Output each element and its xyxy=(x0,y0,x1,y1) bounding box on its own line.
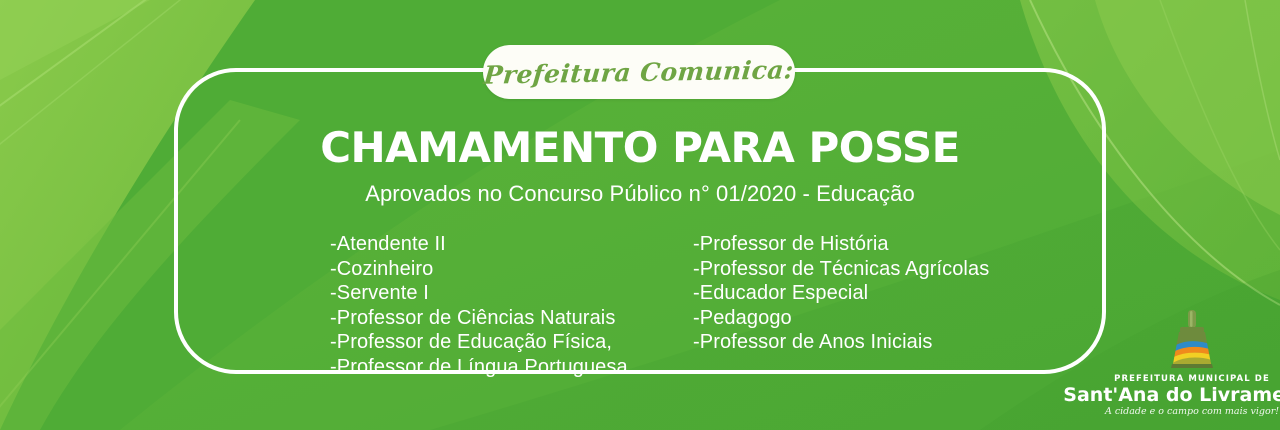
list-item: -Cozinheiro xyxy=(330,257,675,282)
list-item: -Professor de História xyxy=(693,232,1048,257)
page-subtitle: Aprovados no Concurso Público n° 01/2020… xyxy=(174,181,1106,207)
list-item: -Professor de Técnicas Agrícolas xyxy=(693,257,1048,282)
list-item: -Atendente II xyxy=(330,232,675,257)
positions-lists: -Atendente II -Cozinheiro -Servente I -P… xyxy=(330,232,1050,379)
badge-label: Prefeitura Comunica: xyxy=(483,55,795,89)
positions-column-left: -Atendente II -Cozinheiro -Servente I -P… xyxy=(330,232,675,379)
list-item: -Professor de Ciências Naturais xyxy=(330,306,675,331)
positions-column-right: -Professor de História -Professor de Téc… xyxy=(693,232,1048,355)
headline-block: CHAMAMENTO PARA POSSE Aprovados no Concu… xyxy=(174,125,1106,207)
prefeitura-announcement-banner: Prefeitura Comunica: CHAMAMENTO PARA POS… xyxy=(0,0,1280,430)
logo-line-prefeitura: PREFEITURA MUNICIPAL DE xyxy=(1114,374,1270,384)
list-item: -Professor de Língua Portuguesa xyxy=(330,355,675,380)
prefeitura-comunica-badge: Prefeitura Comunica: xyxy=(483,45,795,99)
list-item: -Professor de Educação Física, xyxy=(330,330,675,355)
list-item: -Pedagogo xyxy=(693,306,1048,331)
page-title: CHAMAMENTO PARA POSSE xyxy=(174,125,1106,171)
logo-line-city: Sant'Ana do Livramento xyxy=(1063,384,1280,406)
list-item: -Servente I xyxy=(330,281,675,306)
municipal-logo: PREFEITURA MUNICIPAL DE Sant'Ana do Livr… xyxy=(1112,306,1272,426)
list-item: -Professor de Anos Iniciais xyxy=(693,330,1048,355)
list-item: -Educador Especial xyxy=(693,281,1048,306)
logo-tagline: A cidade e o campo com mais vigor! xyxy=(1105,406,1279,418)
bell-icon xyxy=(1157,306,1227,372)
